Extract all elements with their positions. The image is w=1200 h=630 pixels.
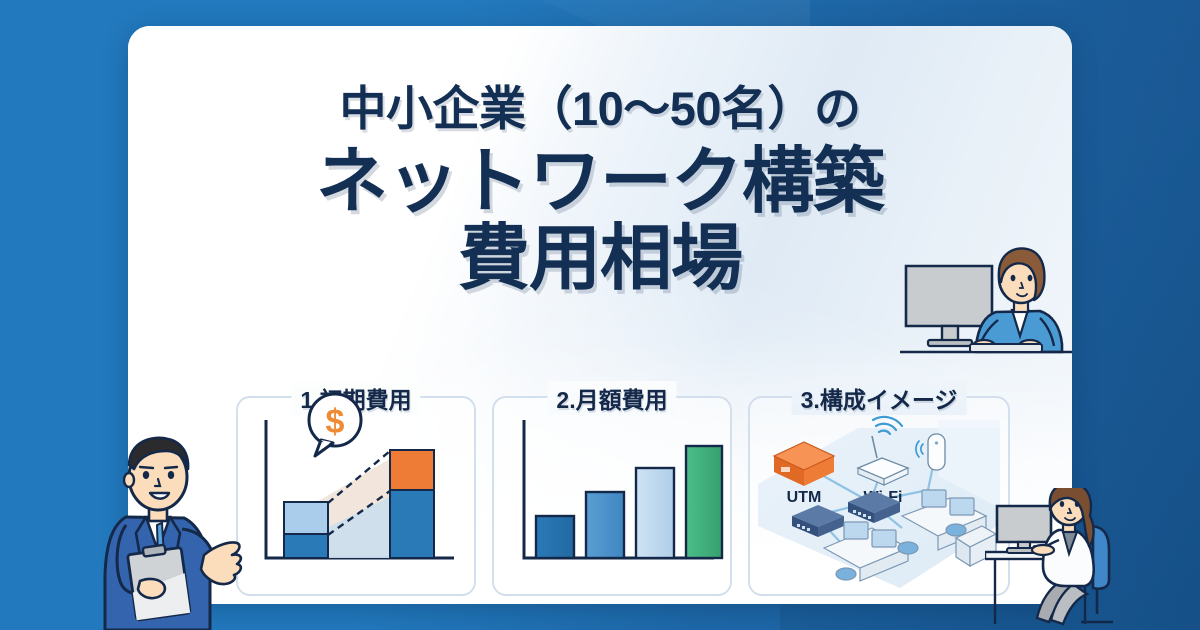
bar-chart-icon (494, 398, 730, 594)
woman-at-desktop-illustration (900, 240, 1072, 365)
businessman-presenting-illustration (96, 425, 246, 630)
panel-network-diagram[interactable]: 3.構成イメージ (748, 396, 1010, 596)
network-topology-icon: UTM Wi- (750, 398, 1008, 594)
dollar-speech-bubble: $ (301, 390, 369, 458)
svg-text:$: $ (326, 403, 345, 441)
panel-title-network-diagram: 3.構成イメージ (792, 381, 967, 415)
svg-text:UTM: UTM (787, 489, 822, 506)
panel-monthly-cost[interactable]: 2.月額費用 (492, 396, 732, 596)
thumbnail-canvas: 中小企業（10〜50名）の ネットワーク構築 費用相場 1.初期費用 (0, 0, 1200, 630)
woman-seated-at-desk-illustration (985, 488, 1145, 630)
panel-title-monthly-cost: 2.月額費用 (547, 381, 676, 415)
title-line-2: ネットワーク構築 (128, 143, 1072, 222)
title-line-1: 中小企業（10〜50名）の (128, 82, 1072, 137)
